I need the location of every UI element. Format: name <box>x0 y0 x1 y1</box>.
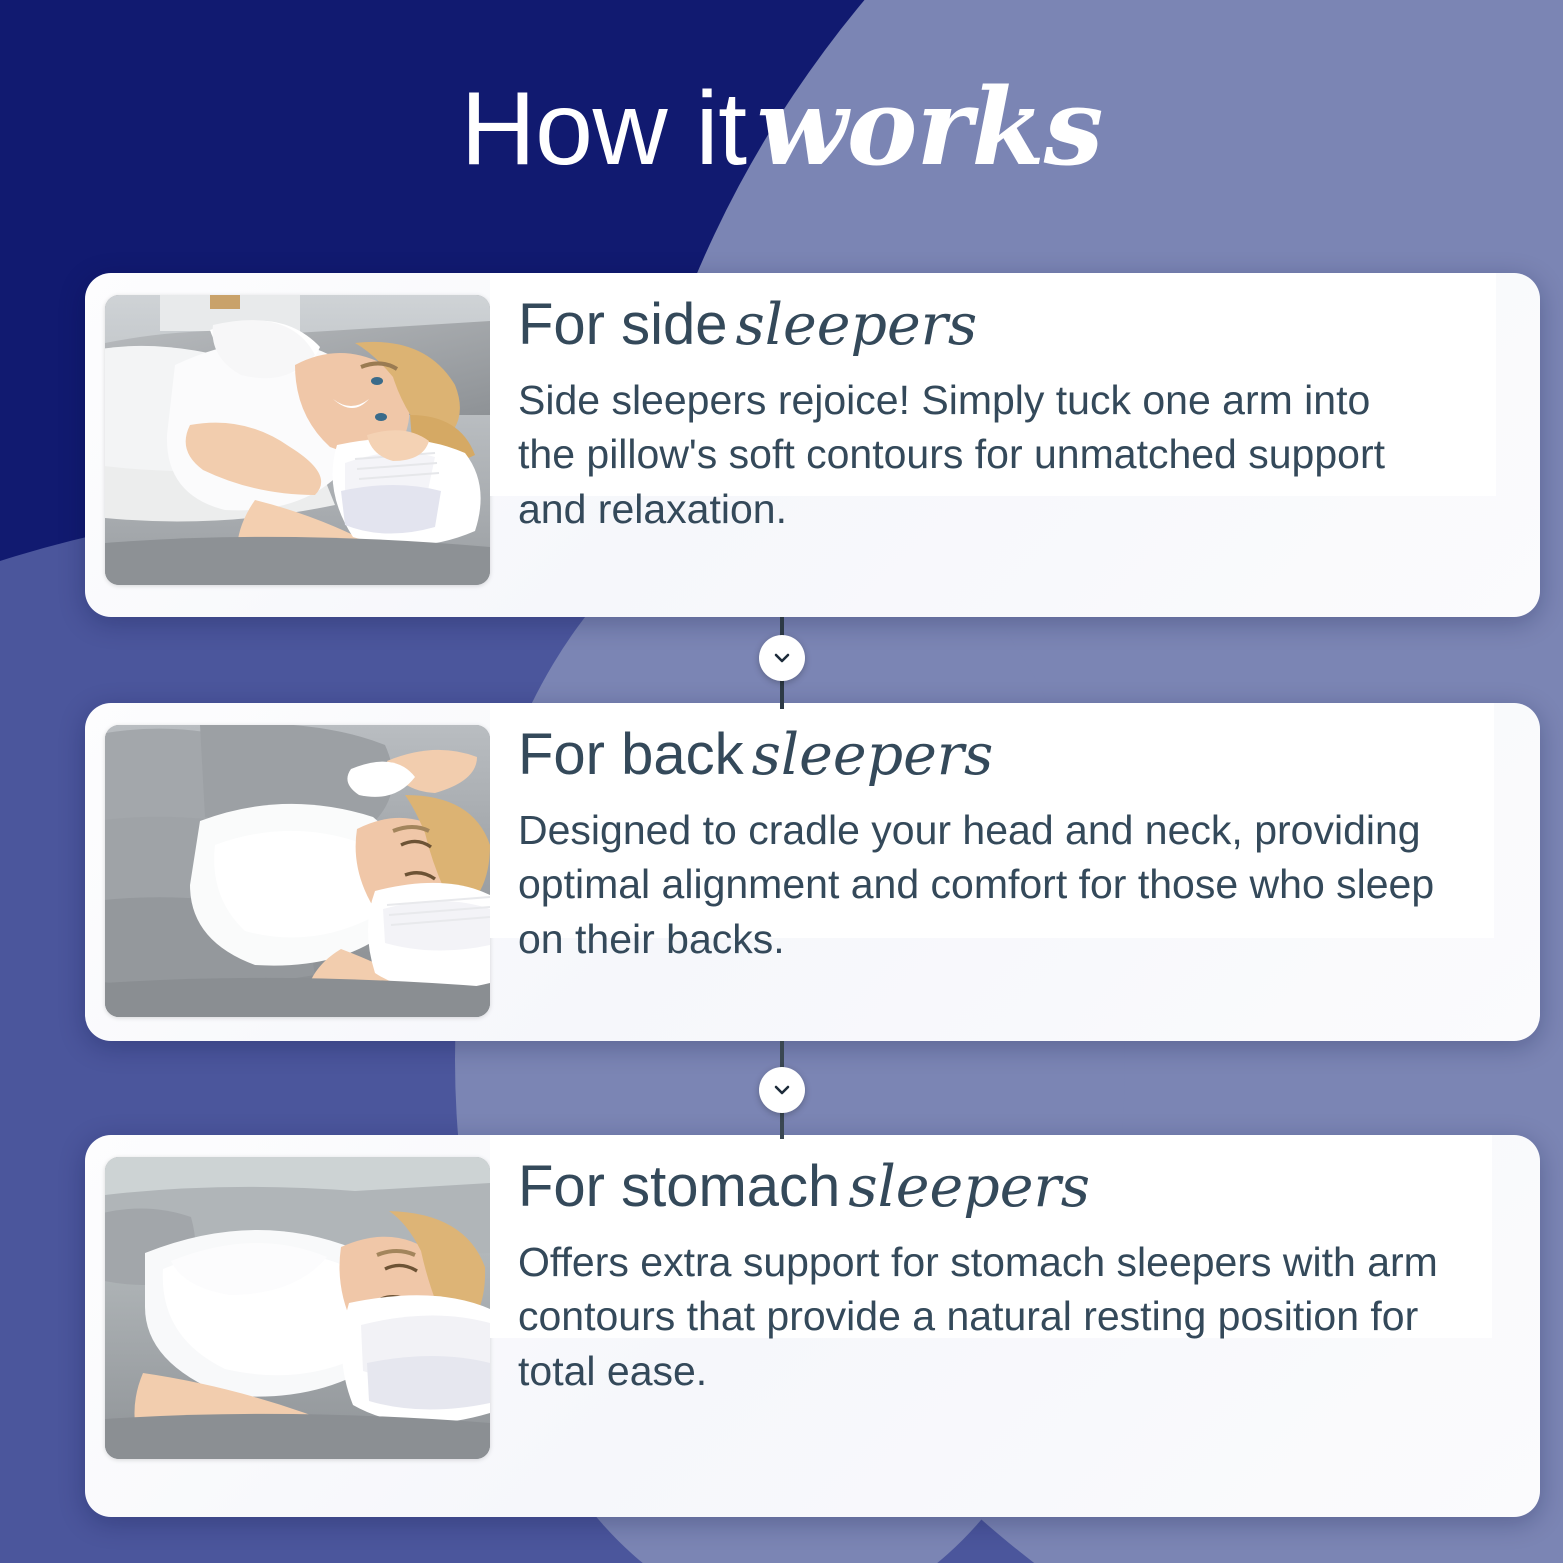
chevron-down-icon <box>771 1079 793 1101</box>
step-connector-1 <box>0 617 1563 709</box>
step-body-stomach-sleepers: For stomachsleepers Offers extra support… <box>490 1135 1540 1398</box>
connector-button-2[interactable] <box>759 1067 805 1113</box>
step-heading-stomach-sleepers: For stomachsleepers <box>518 1155 1480 1219</box>
step-heading-serif: sleepers <box>736 292 978 358</box>
step-heading-back-sleepers: For backsleepers <box>518 723 1480 787</box>
step-card-back-sleepers[interactable]: For backsleepers Designed to cradle your… <box>85 703 1540 1041</box>
chevron-down-icon <box>771 647 793 669</box>
steps-list: For sidesleepers Side sleepers rejoice! … <box>0 0 1563 1563</box>
step-card-side-sleepers[interactable]: For sidesleepers Side sleepers rejoice! … <box>85 273 1540 617</box>
step-heading-sans: For side <box>518 292 728 357</box>
step-body-side-sleepers: For sidesleepers Side sleepers rejoice! … <box>490 273 1540 536</box>
step-body-back-sleepers: For backsleepers Designed to cradle your… <box>490 703 1540 966</box>
step-heading-sans: For back <box>518 722 744 787</box>
connector-button-1[interactable] <box>759 635 805 681</box>
step-image-side-sleepers <box>105 295 490 585</box>
step-card-stomach-sleepers[interactable]: For stomachsleepers Offers extra support… <box>85 1135 1540 1517</box>
step-heading-serif: sleepers <box>752 722 994 788</box>
step-heading-sans: For stomach <box>518 1154 840 1219</box>
step-description-stomach-sleepers: Offers extra support for stomach sleeper… <box>518 1235 1453 1399</box>
step-image-back-sleepers <box>105 725 490 1017</box>
step-image-stomach-sleepers <box>105 1157 490 1459</box>
step-description-back-sleepers: Designed to cradle your head and neck, p… <box>518 803 1480 967</box>
step-heading-side-sleepers: For sidesleepers <box>518 293 1480 357</box>
step-connector-2 <box>0 1041 1563 1139</box>
step-description-side-sleepers: Side sleepers rejoice! Simply tuck one a… <box>518 373 1423 537</box>
step-heading-serif: sleepers <box>848 1154 1090 1220</box>
